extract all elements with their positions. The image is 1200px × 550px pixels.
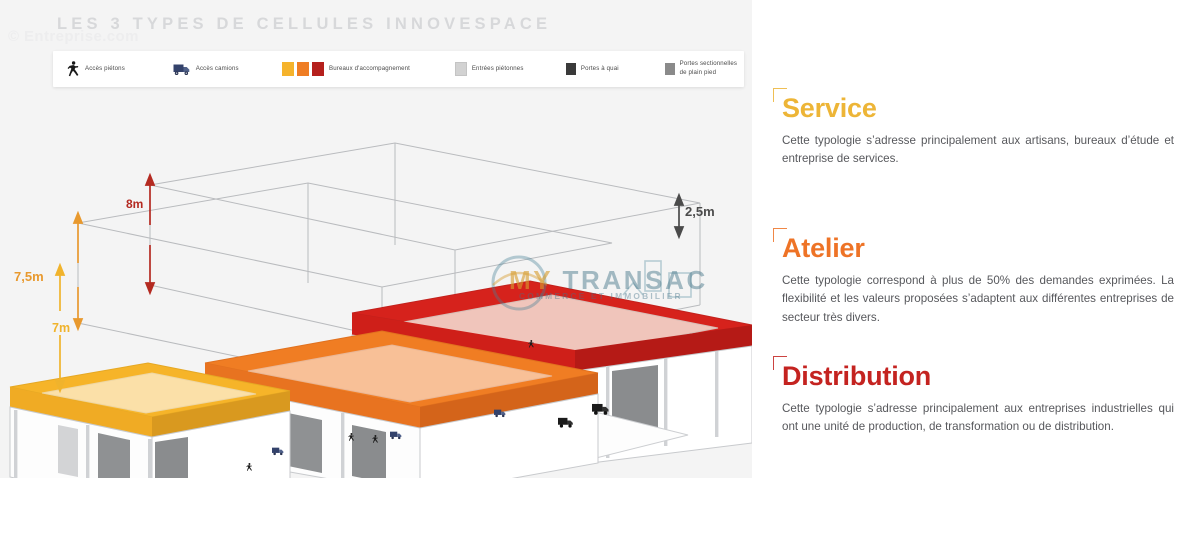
- dimension-label-8m: 8m: [126, 197, 143, 211]
- typology-heading-distribution: Distribution: [772, 356, 1174, 392]
- swatch-porte-quai: [566, 63, 576, 75]
- legend-label: Portes sectionnelles de plain pied: [680, 60, 738, 78]
- porte-sectionnelle: [352, 425, 386, 478]
- swatch-porte-sectionnelle: [665, 63, 675, 75]
- swatch-entree-pietonne: [455, 62, 467, 76]
- truck-icon: [173, 63, 191, 76]
- isometric-svg: .wire{fill:none;stroke:#b9bbbe;stroke-wi…: [0, 95, 752, 478]
- porte-sectionnelle: [288, 413, 322, 473]
- infographic-page: © Entreprise.com LES 3 TYPES DE CELLULES…: [0, 0, 1200, 550]
- dimension-label-2-5m: 2,5m: [685, 204, 715, 219]
- legend-label: Accès piétons: [85, 65, 125, 74]
- isometric-diagram: .wire{fill:none;stroke:#b9bbbe;stroke-wi…: [0, 95, 752, 478]
- corner-bracket-icon: [773, 228, 787, 242]
- typology-body-atelier: Cette typologie correspond à plus de 50%…: [782, 272, 1174, 328]
- legend-bar: Accès piétons Accès camions: [53, 51, 744, 87]
- dimension-label-7m: 7m: [52, 321, 70, 335]
- legend-label: Accès camions: [196, 65, 239, 74]
- legend-label: Bureaux d'accompagnement: [329, 65, 410, 74]
- color-swatches: [282, 62, 324, 76]
- legend-item-bureaux-accompagnement[interactable]: Bureaux d'accompagnement: [268, 51, 441, 87]
- swatch-atelier: [297, 62, 309, 76]
- typology-body-service: Cette typologie s’adresse principalement…: [782, 132, 1174, 170]
- entree-pietonne: [58, 425, 78, 477]
- legend-label: Entrées piétonnes: [472, 65, 524, 74]
- porte-sectionnelle: [98, 433, 130, 478]
- legend-item-portes-a-quai[interactable]: Portes à quai: [552, 51, 651, 87]
- swatch-distribution: [312, 62, 324, 76]
- legend-item-entrees-pietonnes[interactable]: Entrées piétonnes: [441, 51, 552, 87]
- illustration-panel: © Entreprise.com LES 3 TYPES DE CELLULES…: [0, 0, 752, 478]
- legend-item-acces-pietons[interactable]: Accès piétons: [53, 51, 159, 87]
- typology-body-distribution: Cette typologie s’adresse principalement…: [782, 400, 1174, 438]
- typology-heading-service: Service: [772, 88, 1174, 124]
- typology-block-atelier: Atelier Cette typologie correspond à plu…: [772, 228, 1174, 328]
- page-title: LES 3 TYPES DE CELLULES INNOVESPACE: [57, 15, 551, 34]
- typology-panel: Service Cette typologie s’adresse princi…: [752, 0, 1200, 550]
- typology-block-service: Service Cette typologie s’adresse princi…: [772, 88, 1174, 169]
- porte-sectionnelle: [155, 437, 188, 478]
- legend-item-portes-sectionnelles[interactable]: Portes sectionnelles de plain pied: [651, 51, 744, 87]
- dimension-label-7-5m: 7,5m: [14, 269, 44, 284]
- typology-heading-atelier: Atelier: [772, 228, 1174, 264]
- pedestrian-icon: [67, 61, 80, 77]
- typology-block-distribution: Distribution Cette typologie s’adresse p…: [772, 356, 1174, 437]
- swatch-service: [282, 62, 294, 76]
- arrow-2-5m: [675, 195, 683, 237]
- corner-bracket-icon: [773, 356, 787, 370]
- legend-item-acces-camions[interactable]: Accès camions: [159, 51, 268, 87]
- corner-bracket-icon: [773, 88, 787, 102]
- legend-label: Portes à quai: [581, 65, 619, 74]
